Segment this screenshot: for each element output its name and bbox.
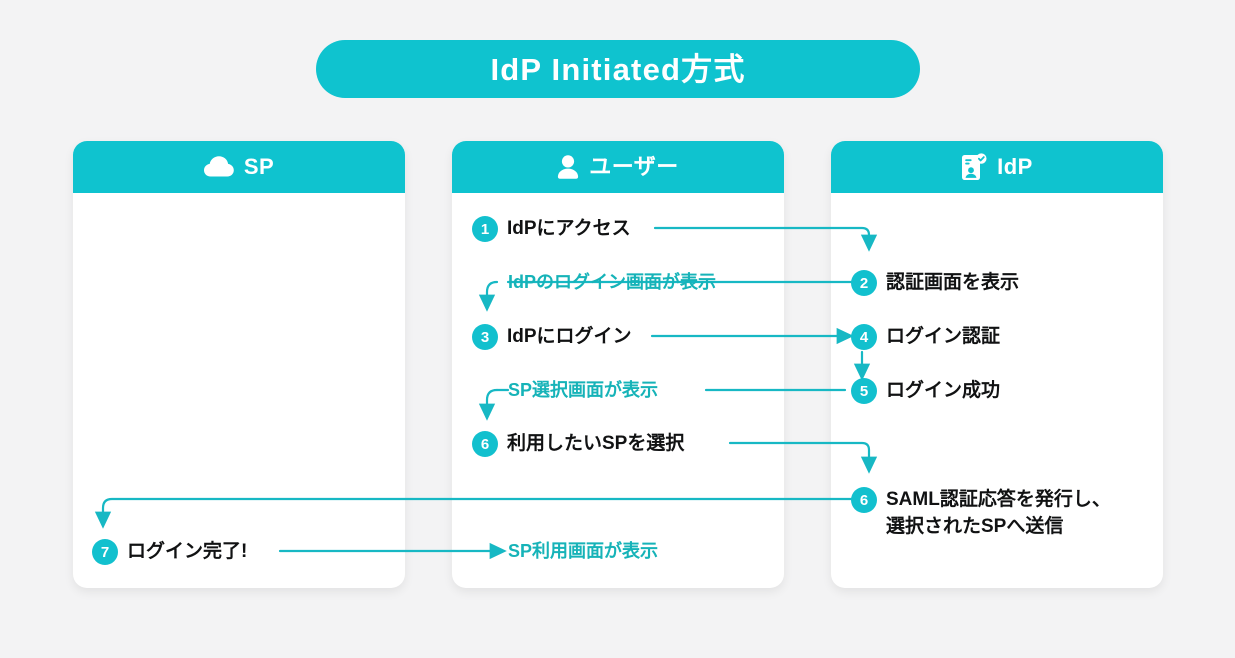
column-panel-user: ユーザー [452,141,784,588]
step-5: 5 ログイン成功 [851,377,1000,404]
note-sp-use-screen: SP利用画面が表示 [508,542,658,560]
column-label-idp: IdP [997,156,1033,178]
step-badge: 7 [92,539,118,565]
cloud-icon [204,156,234,178]
step-label: IdPにアクセス [507,215,631,242]
column-header-user: ユーザー [452,141,784,193]
step-6-idp: 6 SAML認証応答を発行し、選択されたSPへ送信 [851,486,1111,540]
step-badge: 3 [472,324,498,350]
step-badge: 5 [851,378,877,404]
step-badge: 6 [472,431,498,457]
page-title: IdP Initiated方式 [490,54,745,85]
step-4: 4 ログイン認証 [851,323,1000,350]
id-card-check-icon [961,153,987,181]
step-label-line1: SAML認証応答を発行し、 [886,489,1111,510]
step-3: 3 IdPにログイン [472,323,632,350]
step-1: 1 IdPにアクセス [472,215,631,242]
step-label: ログイン認証 [886,323,1000,350]
column-header-idp: IdP [831,141,1163,193]
step-label: 認証画面を表示 [886,269,1019,296]
step-label: IdPにログイン [507,323,632,350]
step-2: 2 認証画面を表示 [851,269,1019,296]
column-panel-sp: SP [73,141,405,588]
note-sp-select-screen: SP選択画面が表示 [508,381,658,399]
step-badge: 1 [472,216,498,242]
note-idp-login-screen: IdPのログイン画面が表示 [508,273,716,291]
column-label-sp: SP [244,156,274,178]
step-label: 利用したいSPを選択 [507,430,684,457]
step-label-line2: 選択されたSPへ送信 [886,513,1111,540]
step-6-user: 6 利用したいSPを選択 [472,430,684,457]
step-badge: 6 [851,487,877,513]
diagram-canvas: IdP Initiated方式 SP ユーザー [0,0,1235,658]
step-7: 7 ログイン完了! [92,538,247,565]
step-label: SAML認証応答を発行し、選択されたSPへ送信 [886,486,1111,540]
diagram-title-pill: IdP Initiated方式 [316,40,920,98]
column-header-sp: SP [73,141,405,193]
step-label: ログイン完了! [127,538,247,565]
step-badge: 4 [851,324,877,350]
person-icon [557,155,579,179]
column-label-user: ユーザー [589,156,679,178]
step-badge: 2 [851,270,877,296]
step-label: ログイン成功 [886,377,1000,404]
